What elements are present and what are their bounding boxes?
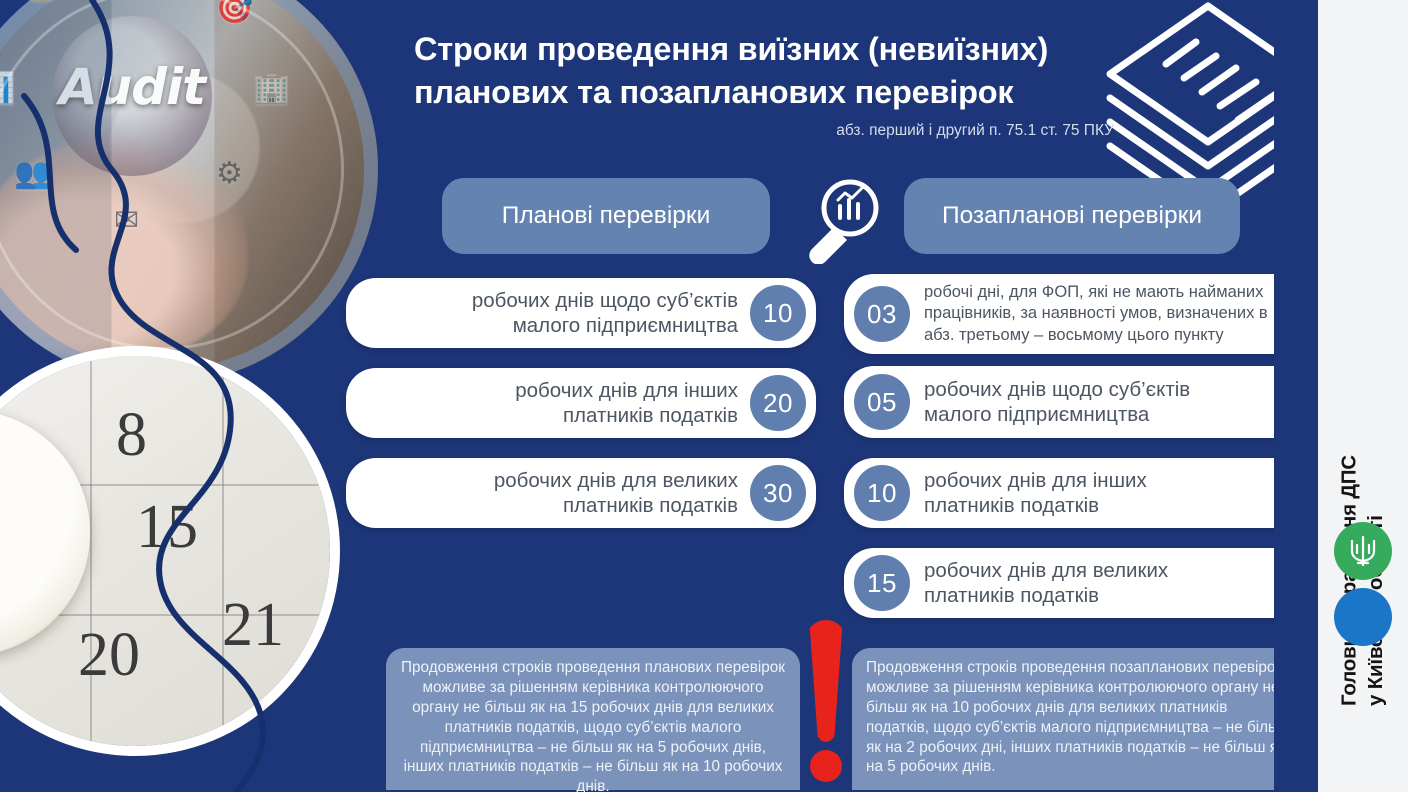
magnifier-chart-icon [792,176,892,264]
calendar-grid-line [222,356,224,746]
calendar-day: 8 [116,404,147,466]
audit-word: Audit [52,58,212,116]
row-label-line: працівників, за наявності умов, визначен… [924,303,1268,324]
money-bag-icon: 💰 [22,0,59,2]
status-badge: 20 [750,375,806,431]
table-row[interactable]: 03 робочі дні, для ФОП, які не мають най… [844,274,1310,354]
row-label-line: абз. третьому – восьмому цього пункту [924,325,1268,346]
note-planned: Продовження строків проведення планових … [386,648,800,790]
row-label: робочих днів для інших платників податкі… [924,468,1147,518]
row-label-line: малого підприємництва [924,402,1190,427]
ukraine-trident-icon [1334,522,1392,580]
row-label-line: платників податків [924,493,1147,518]
infographic-canvas: 💰 👤 🎯 📊 🏢 👥 ✉ ⚙ Audit 8 15 21 20 2 [0,0,1408,792]
status-badge: 03 [854,286,910,342]
title-line-2: планових та позапланових перевірок [414,71,1114,114]
envelope-icon: ✉ [114,206,139,236]
people-group-icon: 👥 [14,159,51,189]
row-label: робочих днів щодо суб’єктів малого підпр… [924,377,1190,427]
row-label: робочих днів для великих платників подат… [494,468,738,518]
row-label-line: платників податків [515,403,738,428]
sidebar: Головне управління ДПСу Київській област… [1318,0,1408,792]
row-label-line: робочих днів для інших [515,378,738,403]
red-exclamation-icon [806,620,846,788]
status-badge: 15 [854,555,910,611]
column-heading-unplanned: Позапланові перевірки [904,178,1240,254]
row-label: робочих днів для великих платників подат… [924,558,1168,608]
calendar-watch-photo: 8 15 21 20 2 [0,356,330,746]
row-label-line: малого підприємництва [472,313,738,338]
legal-reference: абз. перший і другий п. 75.1 ст. 75 ПКУ [414,122,1114,140]
trident-glyph [1347,534,1379,568]
row-label-line: робочих днів для великих [924,558,1168,583]
row-label-line: робочі дні, для ФОП, які не мають найман… [924,282,1268,303]
table-row[interactable]: робочих днів щодо суб’єктів малого підпр… [346,278,816,348]
bar-chart-icon: 📊 [0,74,15,104]
table-row[interactable]: 10 робочих днів для інших платників пода… [844,458,1310,528]
gears-icon: ⚙ [216,159,243,189]
row-label-line: робочих днів щодо суб’єктів [924,377,1190,402]
row-label-line: робочих днів для інших [924,468,1147,493]
status-badge: 05 [854,374,910,430]
table-row[interactable]: 05 робочих днів щодо суб’єктів малого пі… [844,366,1310,438]
hand-illustration [0,139,248,359]
calendar-day: 15 [136,496,198,558]
row-label: робочих днів щодо суб’єктів малого підпр… [472,288,738,338]
status-badge: 30 [750,465,806,521]
calendar-day: 21 [222,594,284,656]
calendar-day: 20 [78,624,140,686]
row-label: робочих днів для інших платників податкі… [515,378,738,428]
status-badge: 10 [854,465,910,521]
exclamation-dot [810,750,842,782]
page-title: Строки проведення виїзних (невиїзних) пл… [414,28,1114,114]
target-icon: 🎯 [216,0,253,24]
blue-circle-logo [1334,588,1392,646]
audit-photo: 💰 👤 🎯 📊 🏢 👥 ✉ ⚙ Audit [0,0,378,384]
row-label: робочі дні, для ФОП, які не мають найман… [924,282,1268,346]
table-row[interactable]: 15 робочих днів для великих платників по… [844,548,1310,618]
audit-bubble [52,16,212,176]
row-label-line: платників податків [924,583,1168,608]
status-badge: 10 [750,285,806,341]
note-unplanned: Продовження строків проведення позаплано… [852,648,1304,790]
table-row[interactable]: робочих днів для великих платників подат… [346,458,816,528]
row-label-line: платників податків [494,493,738,518]
row-label-line: робочих днів щодо суб’єктів [472,288,738,313]
sidebar-curve [1274,0,1318,792]
building-icon: 🏢 [253,74,290,104]
exclamation-stem [806,620,846,742]
title-line-1: Строки проведення виїзних (невиїзних) [414,28,1114,71]
table-row[interactable]: робочих днів для інших платників податкі… [346,368,816,438]
column-heading-planned: Планові перевірки [442,178,770,254]
pocket-watch-icon [0,410,90,656]
row-label-line: робочих днів для великих [494,468,738,493]
org-line-1: Головне управління ДПС [1337,455,1360,706]
